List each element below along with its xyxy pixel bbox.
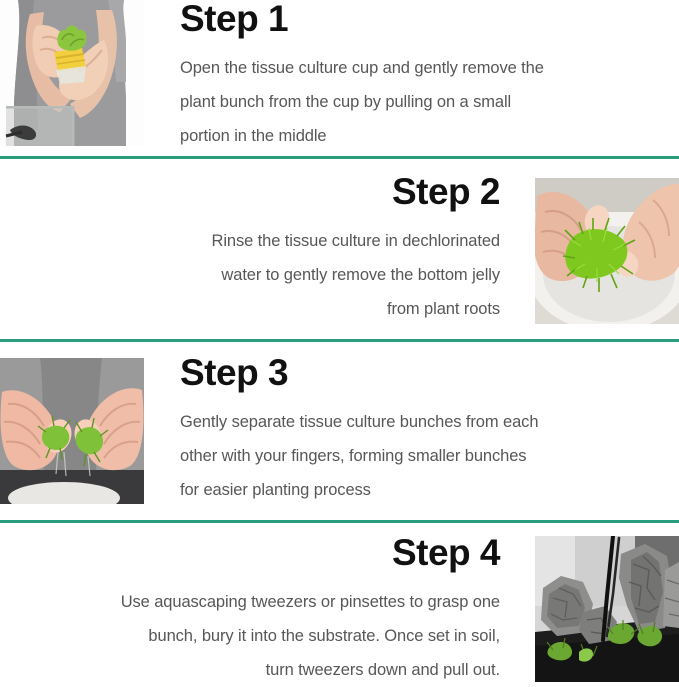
step-3-title: Step 3 (180, 342, 620, 391)
step-4-description: Use aquascaping tweezers or pinsettes to… (0, 571, 500, 687)
step-2-description: Rinse the tissue culture in dechlorinate… (0, 210, 500, 326)
step-4-title: Step 4 (0, 523, 500, 571)
step-section-1: Step 1 Open the tissue culture cup and g… (0, 0, 679, 157)
step-3-description: Gently separate tissue culture bunches f… (180, 391, 620, 507)
step-1-text-column: Step 1 Open the tissue culture cup and g… (180, 0, 620, 153)
step-4-photo (535, 536, 679, 682)
step-section-2: Step 2 Rinse the tissue culture in dechl… (0, 159, 679, 340)
step-4-line-1: Use aquascaping tweezers or pinsettes to… (0, 585, 500, 619)
step-4-line-2: bunch, bury it into the substrate. Once … (0, 619, 500, 653)
step-2-text-column: Step 2 Rinse the tissue culture in dechl… (0, 159, 500, 326)
step-3-text-column: Step 3 Gently separate tissue culture bu… (180, 342, 620, 507)
planting-steps-guide: Step 1 Open the tissue culture cup and g… (0, 0, 679, 683)
step-3-line-3: for easier planting process (180, 473, 620, 507)
step-1-line-1: Open the tissue culture cup and gently r… (180, 51, 620, 85)
step-2-line-1: Rinse the tissue culture in dechlorinate… (0, 224, 500, 258)
step-2-photo-illustration (535, 178, 679, 324)
step-2-line-3: from plant roots (0, 292, 500, 326)
step-4-text-column: Step 4 Use aquascaping tweezers or pinse… (0, 523, 500, 687)
step-2-line-2: water to gently remove the bottom jelly (0, 258, 500, 292)
step-3-photo-illustration (0, 358, 144, 504)
step-2-photo (535, 178, 679, 324)
step-1-line-2: plant bunch from the cup by pulling on a… (180, 85, 620, 119)
step-1-description: Open the tissue culture cup and gently r… (180, 37, 620, 153)
step-1-title: Step 1 (180, 0, 620, 37)
step-4-photo-illustration (535, 536, 679, 682)
step-1-line-3: portion in the middle (180, 119, 620, 153)
step-1-photo-illustration (0, 0, 144, 146)
step-3-line-2: other with your fingers, forming smaller… (180, 439, 620, 473)
step-2-title: Step 2 (0, 159, 500, 210)
step-section-4: Step 4 Use aquascaping tweezers or pinse… (0, 523, 679, 683)
step-1-photo (0, 0, 144, 146)
step-4-line-3: turn tweezers down and pull out. (0, 653, 500, 687)
step-section-3: Step 3 Gently separate tissue culture bu… (0, 342, 679, 521)
step-3-line-1: Gently separate tissue culture bunches f… (180, 405, 620, 439)
step-3-photo (0, 358, 144, 504)
